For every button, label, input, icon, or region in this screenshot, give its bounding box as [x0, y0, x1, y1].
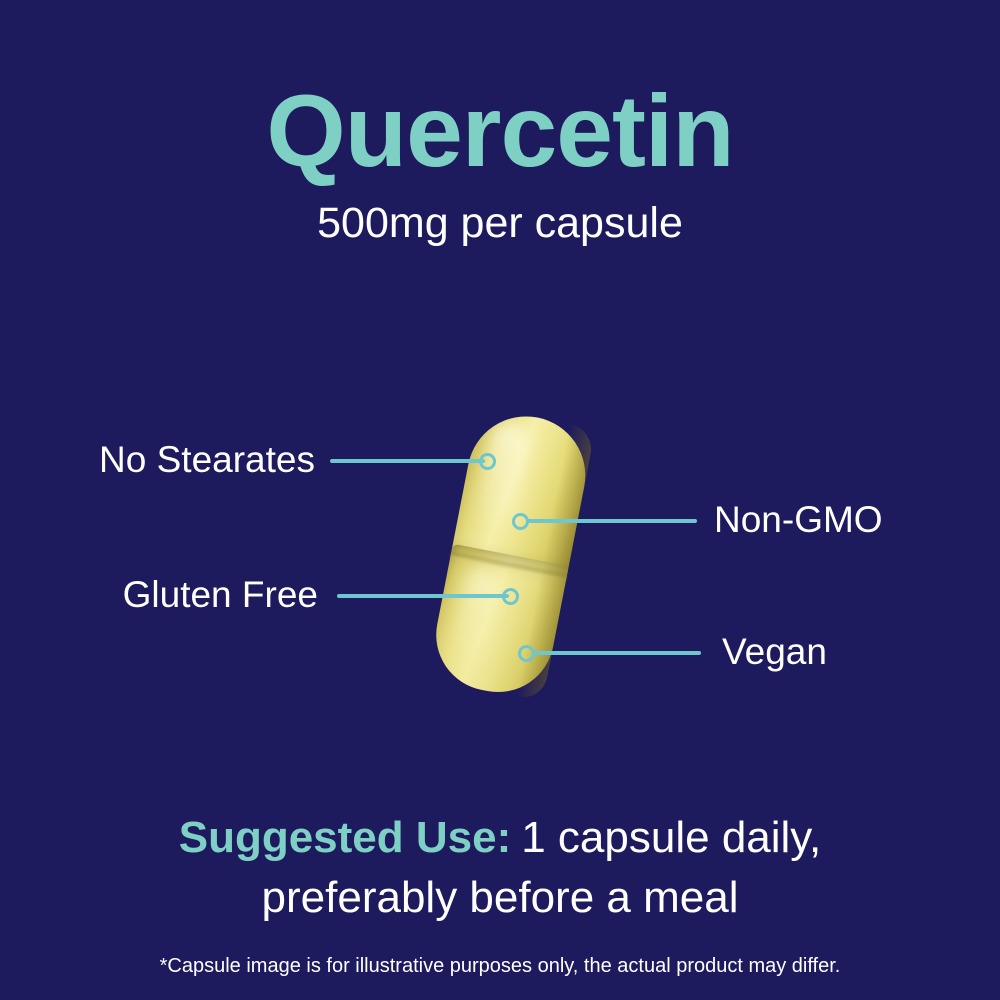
- product-dosage-subtitle: 500mg per capsule: [0, 202, 1000, 245]
- callout-label-non-gmo: Non-GMO: [714, 501, 984, 538]
- suggested-use-line-1: Suggested Use:1 capsule daily,: [0, 808, 1000, 868]
- leader-line-vegan: [533, 651, 701, 655]
- callout-label-gluten-free: Gluten Free: [30, 576, 318, 613]
- capsule-shape: [427, 406, 596, 701]
- suggested-use-block: Suggested Use:1 capsule daily, preferabl…: [0, 808, 1000, 928]
- callout-label-vegan: Vegan: [722, 633, 982, 670]
- leader-line-no-stearates: [330, 459, 485, 463]
- leader-line-non-gmo: [527, 519, 697, 523]
- suggested-use-value: 1 capsule daily,: [521, 813, 821, 862]
- product-infographic: Quercetin 500mg per capsule No Stearates…: [0, 0, 1000, 1000]
- callout-label-no-stearates: No Stearates: [30, 441, 315, 478]
- disclaimer-text: *Capsule image is for illustrative purpo…: [0, 955, 1000, 978]
- suggested-use-line-2: preferably before a meal: [0, 868, 1000, 928]
- leader-dot-gluten-free: [502, 588, 519, 605]
- leader-dot-no-stearates: [479, 453, 496, 470]
- page-title: Quercetin: [0, 80, 1000, 182]
- leader-line-gluten-free: [337, 594, 509, 598]
- suggested-use-label: Suggested Use:: [179, 813, 512, 862]
